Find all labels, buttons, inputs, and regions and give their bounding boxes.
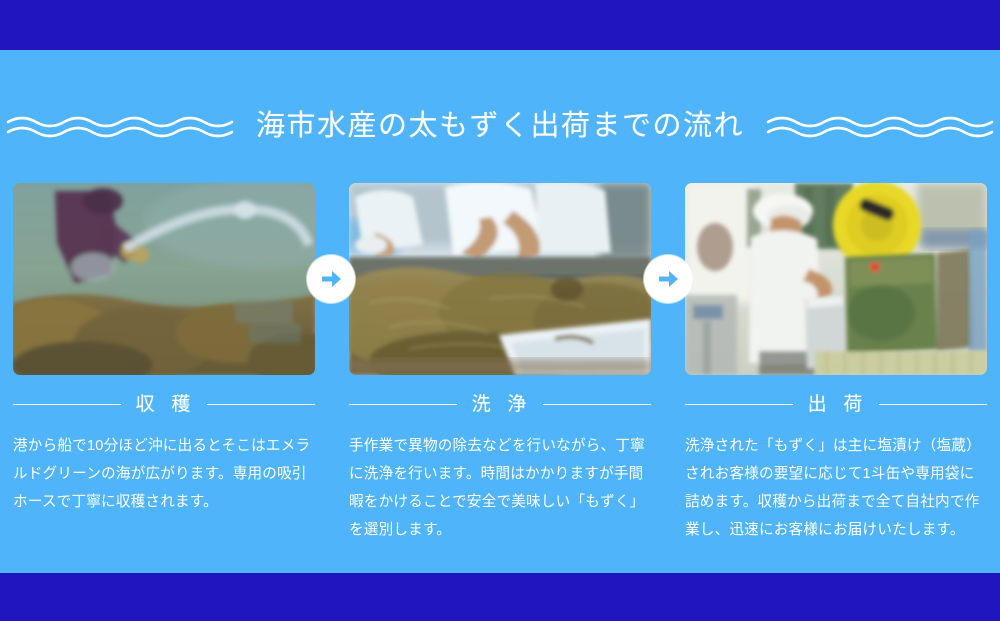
heading-rule-right xyxy=(207,404,315,405)
step-arrow-2 xyxy=(644,255,692,303)
arrow-right-icon xyxy=(656,267,680,291)
top-color-band xyxy=(0,0,1000,50)
process-card-harvest: 収 穫 港から船で10分ほど沖に出るとそこはエメラルドグリーンの海が広がります。… xyxy=(13,183,315,516)
wave-line-icon-left xyxy=(6,111,234,141)
card-heading-shipping: 出 荷 xyxy=(685,393,987,415)
card-title-shipping: 出 荷 xyxy=(804,395,869,414)
arrow-right-icon xyxy=(319,267,343,291)
section-heading: 海市水産の太もずく出荷までの流れ xyxy=(0,100,1000,152)
photo-underwater-harvest xyxy=(13,183,315,375)
process-card-shipping: 出 荷 洗浄された「もずく」は主に塩漬け（塩蔵）されお客様の要望に応じて1斗缶や… xyxy=(685,183,987,544)
heading-rule-right xyxy=(879,404,987,405)
bottom-color-band xyxy=(0,573,1000,621)
process-card-washing: 洗 浄 手作業で異物の除去などを行いながら、丁寧に洗浄を行います。時間はかかりま… xyxy=(349,183,651,544)
heading-rule-right xyxy=(543,404,651,405)
page-title: 海市水産の太もずく出荷までの流れ xyxy=(256,112,744,141)
card-description-washing: 手作業で異物の除去などを行いながら、丁寧に洗浄を行います。時間はかかりますが手間… xyxy=(349,432,651,544)
process-card-list: 収 穫 港から船で10分ほど沖に出るとそこはエメラルドグリーンの海が広がります。… xyxy=(13,183,987,544)
card-description-harvest: 港から船で10分ほど沖に出るとそこはエメラルドグリーンの海が広がります。専用の吸… xyxy=(13,432,315,516)
card-heading-washing: 洗 浄 xyxy=(349,393,651,415)
wave-line-icon-right xyxy=(766,111,994,141)
card-title-washing: 洗 浄 xyxy=(468,395,533,414)
step-arrow-1 xyxy=(307,255,355,303)
card-title-harvest: 収 穫 xyxy=(132,395,197,414)
card-description-shipping: 洗浄された「もずく」は主に塩漬け（塩蔵）されお客様の要望に応じて1斗缶や専用袋に… xyxy=(685,432,987,544)
page-root: 海市水産の太もずく出荷までの流れ xyxy=(0,0,1000,621)
card-heading-harvest: 収 穫 xyxy=(13,393,315,415)
photo-hand-washing xyxy=(349,183,651,375)
photo-packing-station xyxy=(685,183,987,375)
heading-rule-left xyxy=(685,404,793,405)
heading-rule-left xyxy=(13,404,121,405)
heading-rule-left xyxy=(349,404,457,405)
